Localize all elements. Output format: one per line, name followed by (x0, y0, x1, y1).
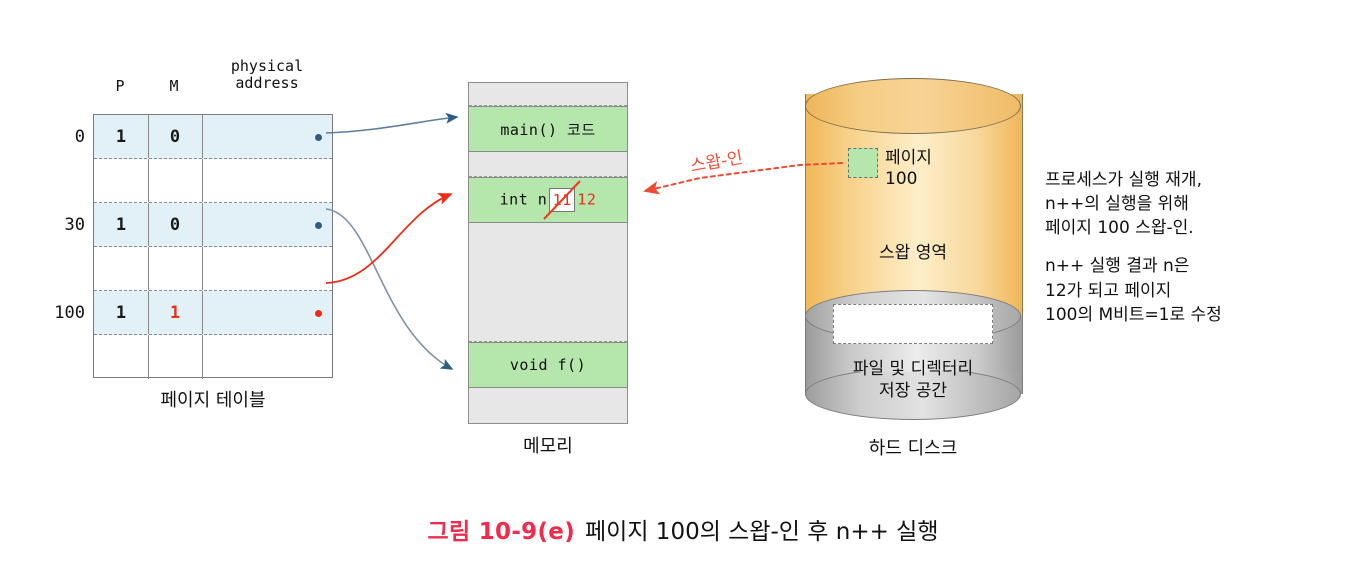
address-pointer-dot (315, 222, 322, 229)
page-table-cell-p: 1 (94, 203, 149, 246)
memory-block: main() 코드 int n1112 void f() (468, 82, 628, 424)
page-table-cell-address (202, 247, 334, 290)
page-100-label-line1: 페이지 (885, 148, 932, 169)
disk-top-ellipse (805, 78, 1021, 134)
address-pointer-dot (315, 134, 322, 141)
file-area-label-line2: 저장 공간 (805, 380, 1021, 402)
header-address-line2: address (201, 75, 333, 92)
page-table-cell-address (202, 203, 334, 246)
page-table-header-physical-address: physical address (201, 58, 333, 93)
memory-segment-void-f: void f() (469, 342, 627, 388)
memory-segment-main-label: main() 코드 (500, 119, 595, 140)
note-paragraph-2: n++ 실행 결과 n은 12가 되고 페이지 100의 M비트=1로 수정 (1045, 254, 1345, 326)
page-table-cell-m: 0 (148, 115, 203, 158)
table-row: 100 1 1 (94, 291, 332, 335)
note-p1-line2: n++의 실행을 위해 (1045, 194, 1189, 214)
note-p2-line1: n++ 실행 결과 n은 (1045, 256, 1189, 276)
table-row: 30 1 0 (94, 203, 332, 247)
page-table-header-p-label: P (115, 77, 124, 95)
file-storage-slot (833, 304, 993, 344)
memory-segment-void-f-label: void f() (510, 356, 586, 374)
page-table-header-p: P (93, 78, 147, 95)
swap-area-label: 스왑 영역 (805, 238, 1021, 263)
note-paragraph-1: 프로세스가 실행 재개, n++의 실행을 위해 페이지 100 스왑-인. (1045, 168, 1345, 240)
figure-title: 페이지 100의 스왑-인 후 n++ 실행 (585, 519, 938, 545)
page-table-cell-p (94, 159, 149, 202)
address-pointer-dot (315, 310, 322, 317)
page-table-header-m: M (147, 78, 201, 95)
table-row: 0 1 0 (94, 115, 332, 159)
header-address-line1: physical (201, 58, 333, 75)
page-table-cell-p (94, 247, 149, 290)
int-n-prefix: int n (500, 191, 548, 209)
note-p2-line3: 100의 M비트=1로 수정 (1045, 305, 1222, 325)
page-table-cell-p: 1 (94, 115, 149, 158)
file-area-label: 파일 및 디렉터리 저장 공간 (805, 358, 1021, 402)
explanation-note: 프로세스가 실행 재개, n++의 실행을 위해 페이지 100 스왑-인. n… (1045, 168, 1345, 327)
page-table-cell-m (148, 159, 203, 202)
page-100-label-line2: 100 (885, 169, 932, 190)
page-100-label: 페이지 100 (885, 148, 932, 191)
arrow-row0-to-main (326, 117, 457, 133)
page-table-cell-address (202, 335, 334, 379)
new-value-text: 12 (577, 191, 596, 209)
table-row (94, 159, 332, 203)
page-table-caption: 페이지 테이블 (63, 386, 363, 412)
page-table-cell-p (94, 335, 149, 379)
figure-number: 그림 10-9(e) (428, 519, 576, 545)
page-table: 0 1 0 30 1 0 100 (93, 114, 333, 378)
page-table-cell-p: 1 (94, 291, 149, 334)
old-value-box: 11 (549, 188, 575, 212)
page-table-cell-address (202, 115, 334, 158)
file-area-label-line1: 파일 및 디렉터리 (805, 358, 1021, 380)
page-table-cell-m (148, 247, 203, 290)
page-table-cell-address (202, 291, 334, 334)
page-table-cell-m: 1 (148, 291, 203, 334)
swap-in-label: 스왑-인 (688, 143, 745, 177)
note-p1-line1: 프로세스가 실행 재개, (1045, 170, 1202, 190)
page-table-row-index: 0 (75, 127, 85, 147)
figure-canvas: P M physical address 0 1 0 30 1 0 (0, 0, 1366, 578)
arrow-row30-to-voidf (326, 209, 452, 369)
page-table-cell-address (202, 159, 334, 202)
note-p1-line3: 페이지 100 스왑-인. (1045, 218, 1194, 238)
page-table-row-index: 30 (65, 215, 85, 235)
page-100-block (848, 148, 878, 178)
hard-disk-cylinder: 페이지 100 스왑 영역 파일 및 디렉터리 저장 공간 (805, 78, 1021, 424)
figure-caption: 그림 10-9(e)페이지 100의 스왑-인 후 n++ 실행 (0, 512, 1366, 546)
memory-caption: 메모리 (448, 432, 648, 458)
memory-segment-main: main() 코드 (469, 106, 627, 152)
old-value-text: 11 (550, 189, 574, 211)
page-table-header-m-label: M (169, 77, 178, 95)
memory-segment-int-n: int n1112 (469, 177, 627, 223)
table-row (94, 335, 332, 379)
page-table-cell-m: 0 (148, 203, 203, 246)
memory-segment-int-n-label: int n1112 (500, 188, 597, 212)
note-p2-line2: 12가 되고 페이지 (1045, 281, 1171, 301)
table-row (94, 247, 332, 291)
arrow-row100-to-intn (326, 194, 451, 283)
hard-disk-caption: 하드 디스크 (805, 434, 1021, 460)
page-table-row-index: 100 (54, 303, 85, 323)
page-table-cell-m (148, 335, 203, 379)
